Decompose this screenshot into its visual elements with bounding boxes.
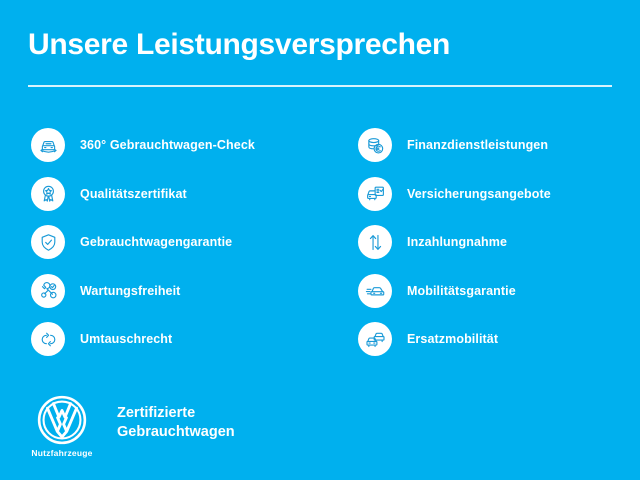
promise-item-mobilitaetsgarantie[interactable]: Mobilitätsgarantie: [358, 267, 623, 316]
two-cars-icon: [358, 322, 392, 356]
promise-item-inzahlungnahme[interactable]: Inzahlungnahme: [358, 218, 623, 267]
promises-column-left: 360° Gebrauchtwagen-Check Qualitätszerti…: [31, 121, 331, 364]
award-medal-icon: [31, 177, 65, 211]
promise-label: Gebrauchtwagengarantie: [80, 235, 232, 249]
brand-sublabel: Nutzfahrzeuge: [31, 448, 92, 458]
promises-column-right: Finanzdienstleistungen Versicherungsange…: [358, 121, 623, 364]
coins-euro-icon: [358, 128, 392, 162]
page-header: Unsere Leistungsversprechen: [28, 28, 612, 61]
promise-item-qualitaetszertifikat[interactable]: Qualitätszertifikat: [31, 170, 331, 219]
promise-item-umtauschrecht[interactable]: Umtauschrecht: [31, 315, 331, 364]
wrench-check-icon: [31, 274, 65, 308]
promise-label: 360° Gebrauchtwagen-Check: [80, 138, 255, 152]
promise-label: Ersatzmobilität: [407, 332, 498, 346]
promise-label: Versicherungsangebote: [407, 187, 551, 201]
promises-page: Unsere Leistungsversprechen 360°: [0, 0, 640, 480]
car-motion-icon: [358, 274, 392, 308]
promise-item-wartungsfreiheit[interactable]: Wartungsfreiheit: [31, 267, 331, 316]
exchange-arrows-icon: [31, 322, 65, 356]
promise-item-gebrauchtwagen-check[interactable]: 360° Gebrauchtwagen-Check: [31, 121, 331, 170]
promise-label: Wartungsfreiheit: [80, 284, 180, 298]
promise-label: Mobilitätsgarantie: [407, 284, 516, 298]
volkswagen-logo: [36, 394, 88, 446]
car-document-check-icon: [358, 177, 392, 211]
promise-label: Inzahlungnahme: [407, 235, 507, 249]
promise-label: Umtauschrecht: [80, 332, 172, 346]
promise-item-versicherungsangebote[interactable]: Versicherungsangebote: [358, 170, 623, 219]
promise-item-ersatzmobilitaet[interactable]: Ersatzmobilität: [358, 315, 623, 364]
promise-label: Finanzdienstleistungen: [407, 138, 548, 152]
footer-claim-line1: Zertifizierte: [117, 404, 235, 423]
footer-claim-line2: Gebrauchtwagen: [117, 423, 235, 442]
promise-item-finanzdienstleistungen[interactable]: Finanzdienstleistungen: [358, 121, 623, 170]
footer-claim: Zertifizierte Gebrauchtwagen: [117, 404, 235, 441]
footer-brand: Nutzfahrzeuge Zertifizierte Gebrauchtwag…: [31, 394, 235, 458]
shield-check-icon: [31, 225, 65, 259]
arrows-up-down-icon: [358, 225, 392, 259]
page-title: Unsere Leistungsversprechen: [28, 28, 612, 61]
brand-mark: Nutzfahrzeuge: [31, 394, 93, 458]
car-360-check-icon: [31, 128, 65, 162]
promise-item-gebrauchtwagengarantie[interactable]: Gebrauchtwagengarantie: [31, 218, 331, 267]
promise-label: Qualitätszertifikat: [80, 187, 187, 201]
title-divider: [28, 85, 612, 87]
